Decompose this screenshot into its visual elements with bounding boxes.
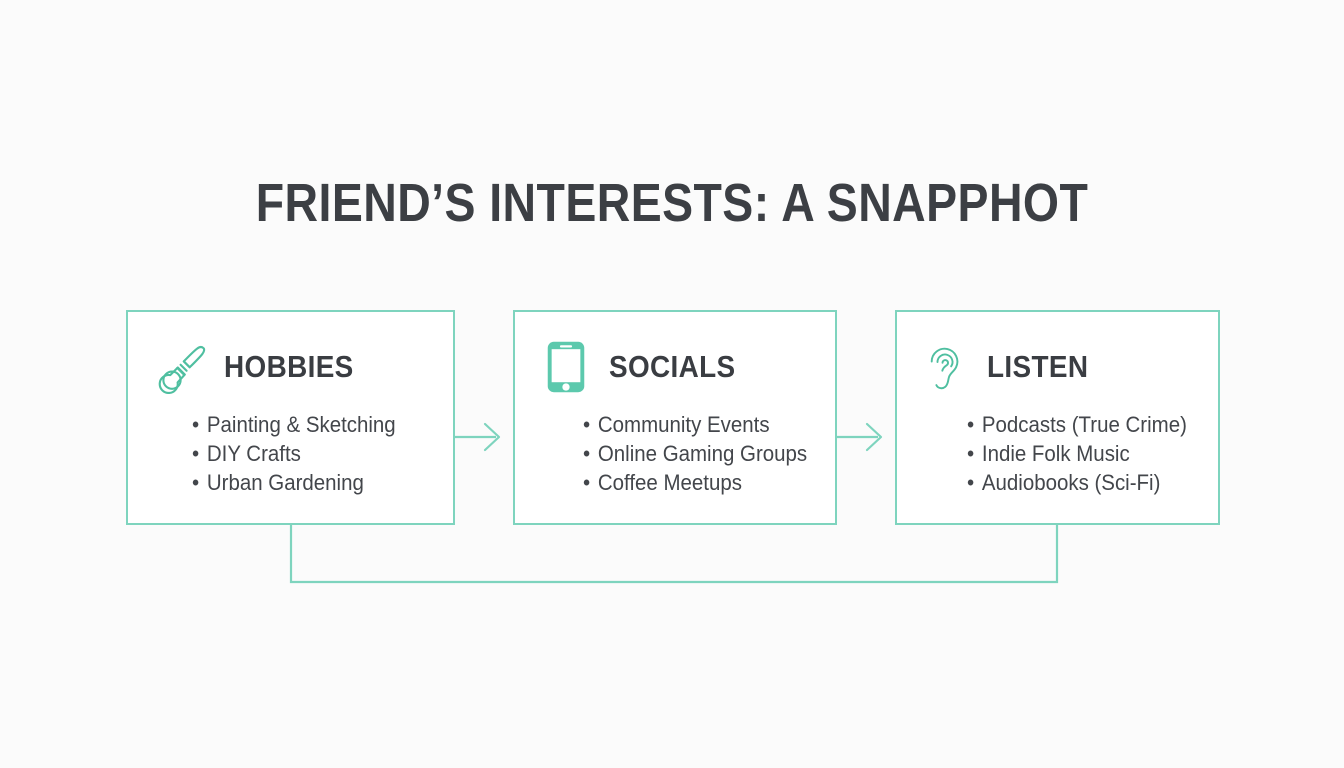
card-listen-title: LISTEN [987, 349, 1088, 385]
card-hobbies-header: HOBBIES [128, 336, 453, 398]
list-item: Audiobooks (Sci-Fi) [967, 468, 1200, 497]
smartphone-icon [543, 339, 589, 395]
card-socials-list: Community Events Online Gaming Groups Co… [515, 410, 835, 497]
card-listen-header: LISTEN [897, 336, 1218, 398]
interests-diagram: HOBBIES Painting & Sketching DIY Crafts … [0, 0, 1344, 768]
card-socials-title: SOCIALS [609, 349, 736, 385]
list-item: Urban Gardening [192, 468, 435, 497]
card-socials[interactable]: SOCIALS Community Events Online Gaming G… [513, 310, 837, 525]
card-listen[interactable]: LISTEN Podcasts (True Crime) Indie Folk … [895, 310, 1220, 525]
card-hobbies-list: Painting & Sketching DIY Crafts Urban Ga… [128, 410, 453, 497]
card-hobbies-title: HOBBIES [224, 349, 354, 385]
card-socials-header: SOCIALS [515, 336, 835, 398]
list-item: Community Events [583, 410, 817, 439]
list-item: Coffee Meetups [583, 468, 817, 497]
list-item: Painting & Sketching [192, 410, 435, 439]
ear-icon [921, 339, 969, 395]
connector-hobbies-to-socials [455, 424, 499, 450]
connector-listen-back-to-hobbies [291, 525, 1057, 582]
list-item: Online Gaming Groups [583, 439, 817, 468]
list-item: Podcasts (True Crime) [967, 410, 1200, 439]
connector-socials-to-listen [837, 424, 881, 450]
card-hobbies[interactable]: HOBBIES Painting & Sketching DIY Crafts … [126, 310, 455, 525]
card-listen-list: Podcasts (True Crime) Indie Folk Music A… [897, 410, 1218, 497]
list-item: Indie Folk Music [967, 439, 1200, 468]
list-item: DIY Crafts [192, 439, 435, 468]
paintbrush-icon [158, 339, 212, 395]
